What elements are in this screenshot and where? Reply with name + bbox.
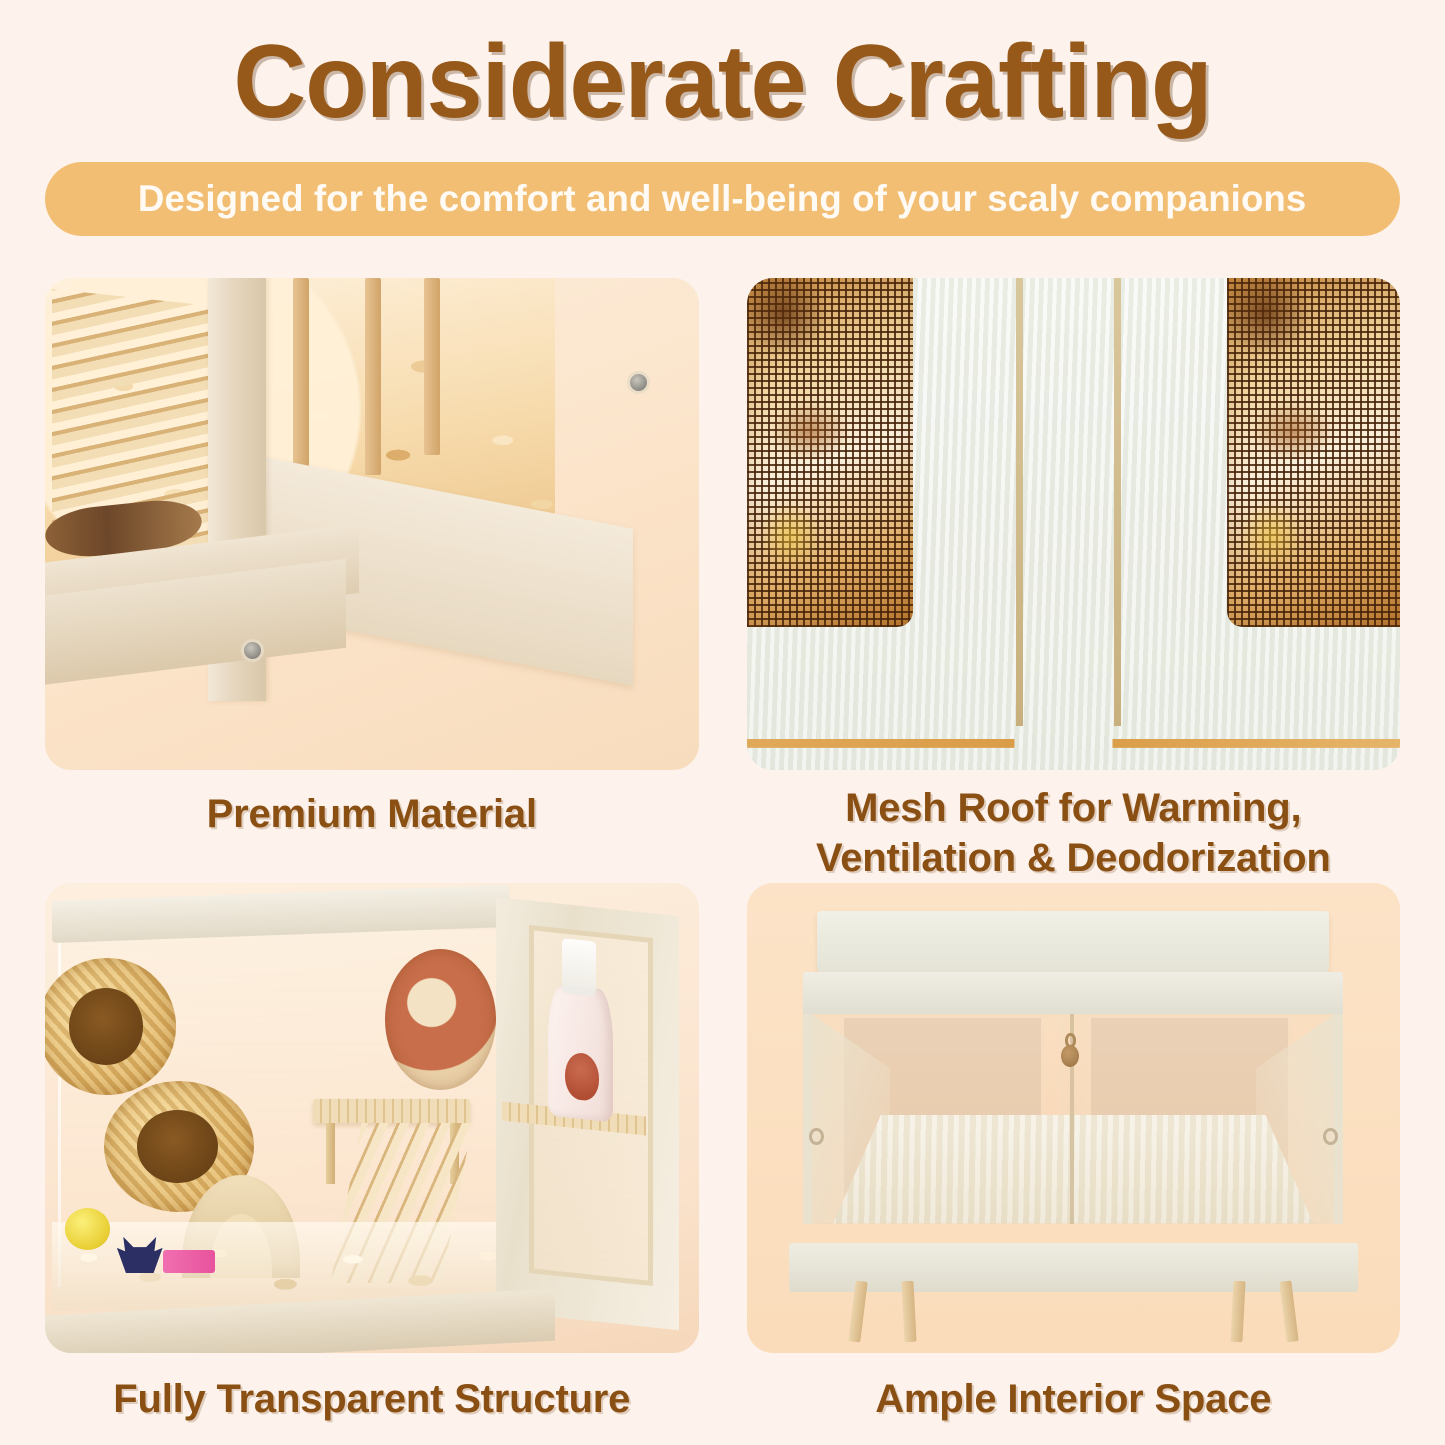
exercise-wheel: [385, 949, 496, 1090]
pink-toy: [163, 1250, 215, 1274]
base-board: [789, 1243, 1358, 1292]
feature-panel-premium-material: Premium Material: [45, 278, 699, 883]
cage-leg: [1230, 1280, 1245, 1341]
subtitle-banner: Designed for the comfort and well-being …: [45, 162, 1400, 236]
mesh-screen-panel-left: [747, 278, 914, 627]
bottle-accent-oval: [565, 1051, 599, 1102]
caption-fully-transparent: Fully Transparent Structure: [113, 1353, 630, 1425]
caption-ample-interior: Ample Interior Space: [875, 1353, 1271, 1425]
front-top-rail: [803, 972, 1343, 1018]
photo-fully-transparent: [45, 883, 699, 1353]
lock-body: [1061, 1045, 1079, 1068]
wooden-post: [424, 278, 440, 455]
header: Considerate Crafting Designed for the co…: [0, 0, 1445, 236]
subtitle-text: Designed for the comfort and well-being …: [138, 178, 1306, 220]
feature-panel-ample-interior: Ample Interior Space: [747, 883, 1401, 1425]
roof-seam: [1114, 278, 1121, 726]
caption-line-2: Ventilation & Deodorization: [816, 834, 1331, 884]
page-title: Considerate Crafting: [22, 24, 1424, 140]
roof-seam: [1016, 278, 1023, 726]
caption-line-1: Mesh Roof for Warming,: [816, 784, 1331, 834]
feature-panel-fully-transparent: Fully Transparent Structure: [45, 883, 699, 1425]
caption-premium-material: Premium Material: [207, 770, 537, 840]
straw-nest-hut: [45, 958, 176, 1094]
mesh-screen-panel-right: [1227, 278, 1400, 627]
photo-mesh-roof: [747, 278, 1401, 770]
caption-mesh-roof: Mesh Roof for Warming, Ventilation & Deo…: [816, 770, 1331, 883]
wooden-post: [365, 278, 381, 475]
door-lock-icon: [1059, 1033, 1082, 1067]
feature-panel-mesh-roof: Mesh Roof for Warming, Ventilation & Deo…: [747, 278, 1401, 883]
yellow-ball-toy: [65, 1208, 111, 1250]
screw-icon: [630, 374, 647, 391]
wooden-post: [293, 278, 309, 494]
water-bottle-dispenser: [548, 983, 613, 1121]
photo-ample-interior: [747, 883, 1401, 1353]
nest-entrance-hole: [69, 988, 143, 1064]
feature-grid: Premium Material Mesh Roof for Warming, …: [0, 278, 1445, 1425]
platform-leg: [326, 1123, 335, 1184]
side-vent-hole: [809, 1128, 824, 1145]
nest-entrance-hole: [137, 1110, 218, 1184]
cage-body: [789, 911, 1358, 1292]
wooden-platform: [313, 1099, 470, 1123]
photo-premium-material: [45, 278, 699, 770]
side-vent-hole: [1323, 1128, 1338, 1145]
cage-roof-frame: [817, 911, 1329, 972]
